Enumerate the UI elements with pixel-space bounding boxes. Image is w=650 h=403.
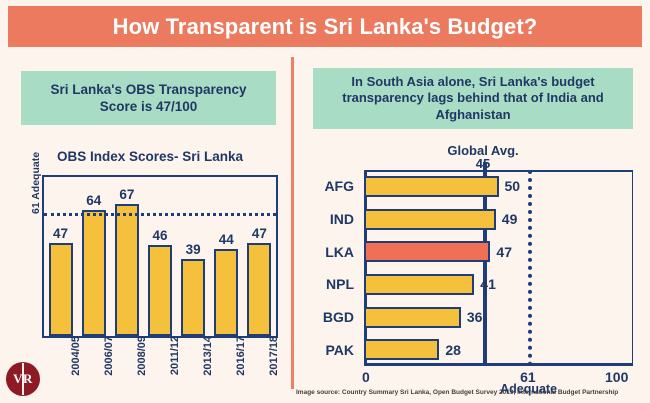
right-chart-y-axis [364, 170, 367, 366]
right-chart-bar-group: PAK28 [364, 339, 461, 360]
left-chart-bar [49, 243, 73, 336]
right-chart-bar [364, 241, 490, 262]
left-chart-adequate-threshold-line [44, 213, 276, 216]
right-chart-bar-group: NPL41 [364, 274, 496, 295]
left-chart-bar-value: 46 [152, 228, 167, 243]
right-chart-frame [364, 170, 633, 366]
infographic-canvas: How Transparent is Sri Lanka's Budget? S… [0, 0, 650, 403]
right-chart-bar [364, 307, 461, 328]
right-chart-bar-value: 41 [480, 276, 496, 292]
right-chart-bar [364, 176, 499, 197]
right-chart-bar-value: 50 [505, 178, 521, 194]
right-chart-bar-group: AFG50 [364, 176, 520, 197]
left-chart-bar-value: 44 [219, 232, 234, 247]
left-chart-plot-area: 472004/05642006/07672008/09462011/123920… [42, 175, 278, 338]
left-chart-bar-value: 47 [53, 226, 68, 241]
right-chart-category-label: NPL [302, 276, 364, 292]
right-chart-bar [364, 339, 439, 360]
left-chart-bar [115, 204, 139, 336]
left-panel-callout: Sri Lanka's OBS Transparency Score is 47… [21, 71, 276, 125]
title-bar: How Transparent is Sri Lanka's Budget? [8, 6, 642, 47]
left-chart-bar-group: 462011/12 [145, 177, 175, 336]
left-chart-bar [148, 245, 172, 336]
left-chart-bars: 472004/05642006/07672008/09462011/123920… [44, 177, 276, 336]
right-chart-bar-value: 47 [496, 244, 512, 260]
right-chart-x-tick-label: 100 [605, 369, 628, 385]
right-chart-bar-value: 28 [445, 342, 461, 358]
left-chart-bar-group: 672008/09 [112, 177, 142, 336]
left-chart-bar-group: 392013/14 [178, 177, 208, 336]
left-chart-bar [214, 249, 238, 336]
right-chart-category-label: PAK [302, 342, 364, 358]
left-chart-bar-value: 67 [119, 187, 134, 202]
right-chart-bar-value: 49 [502, 211, 518, 227]
right-chart-bar-value: 36 [467, 309, 483, 325]
left-chart-adequate-label: 61 Adequate [30, 154, 42, 214]
left-chart-bar-group: 472004/05 [46, 177, 76, 336]
left-chart-category-label: 2016/17 [231, 336, 247, 376]
right-chart-bar-group: BGD36 [364, 307, 482, 328]
right-chart-bar-group: IND49 [364, 209, 517, 230]
right-chart-category-label: AFG [302, 178, 364, 194]
right-chart-category-label: IND [302, 211, 364, 227]
publisher-logo: VR [6, 362, 40, 396]
left-chart-title: OBS Index Scores- Sri Lanka [21, 149, 279, 164]
left-chart-bar-group: 472017/18 [244, 177, 274, 336]
left-chart-category-label: 2006/07 [99, 336, 115, 376]
source-note: Image source: Country Summary Sri Lanka,… [296, 389, 618, 396]
right-chart-x-tick-label: 0 [362, 369, 370, 385]
left-chart-bar-group: 642006/07 [79, 177, 109, 336]
left-chart-bar-value: 39 [186, 242, 201, 257]
logo-divider [22, 363, 24, 395]
right-chart-category-label: LKA [302, 244, 364, 260]
right-chart-adequate-caption: Adequate [500, 382, 557, 396]
right-chart-bar [364, 274, 474, 295]
left-chart-category-label: 2008/09 [132, 336, 148, 376]
left-chart-bar-value: 64 [86, 193, 101, 208]
right-panel-callout: In South Asia alone, Sri Lanka's budget … [313, 68, 633, 129]
left-chart-bar [82, 210, 106, 336]
left-chart-bar [247, 243, 271, 336]
right-chart-adequate-threshold-line [528, 170, 532, 366]
panel-divider [291, 57, 294, 389]
left-chart-category-label: 2017/18 [264, 336, 280, 376]
left-chart-bar [181, 259, 205, 336]
left-chart-category-label: 2004/05 [66, 336, 82, 376]
left-chart-bar-value: 47 [252, 226, 267, 241]
right-chart-plot-area: AFG50IND49LKA47NPL41BGD36PAK28 [364, 170, 633, 366]
right-chart-category-label: BGD [302, 309, 364, 325]
right-chart-bar-group: LKA47 [364, 241, 512, 262]
page-title: How Transparent is Sri Lanka's Budget? [113, 14, 538, 40]
right-chart-bar [364, 209, 496, 230]
left-chart-bar-group: 442016/17 [211, 177, 241, 336]
left-chart-category-label: 2013/14 [198, 336, 214, 376]
left-chart-category-label: 2011/12 [165, 336, 181, 375]
